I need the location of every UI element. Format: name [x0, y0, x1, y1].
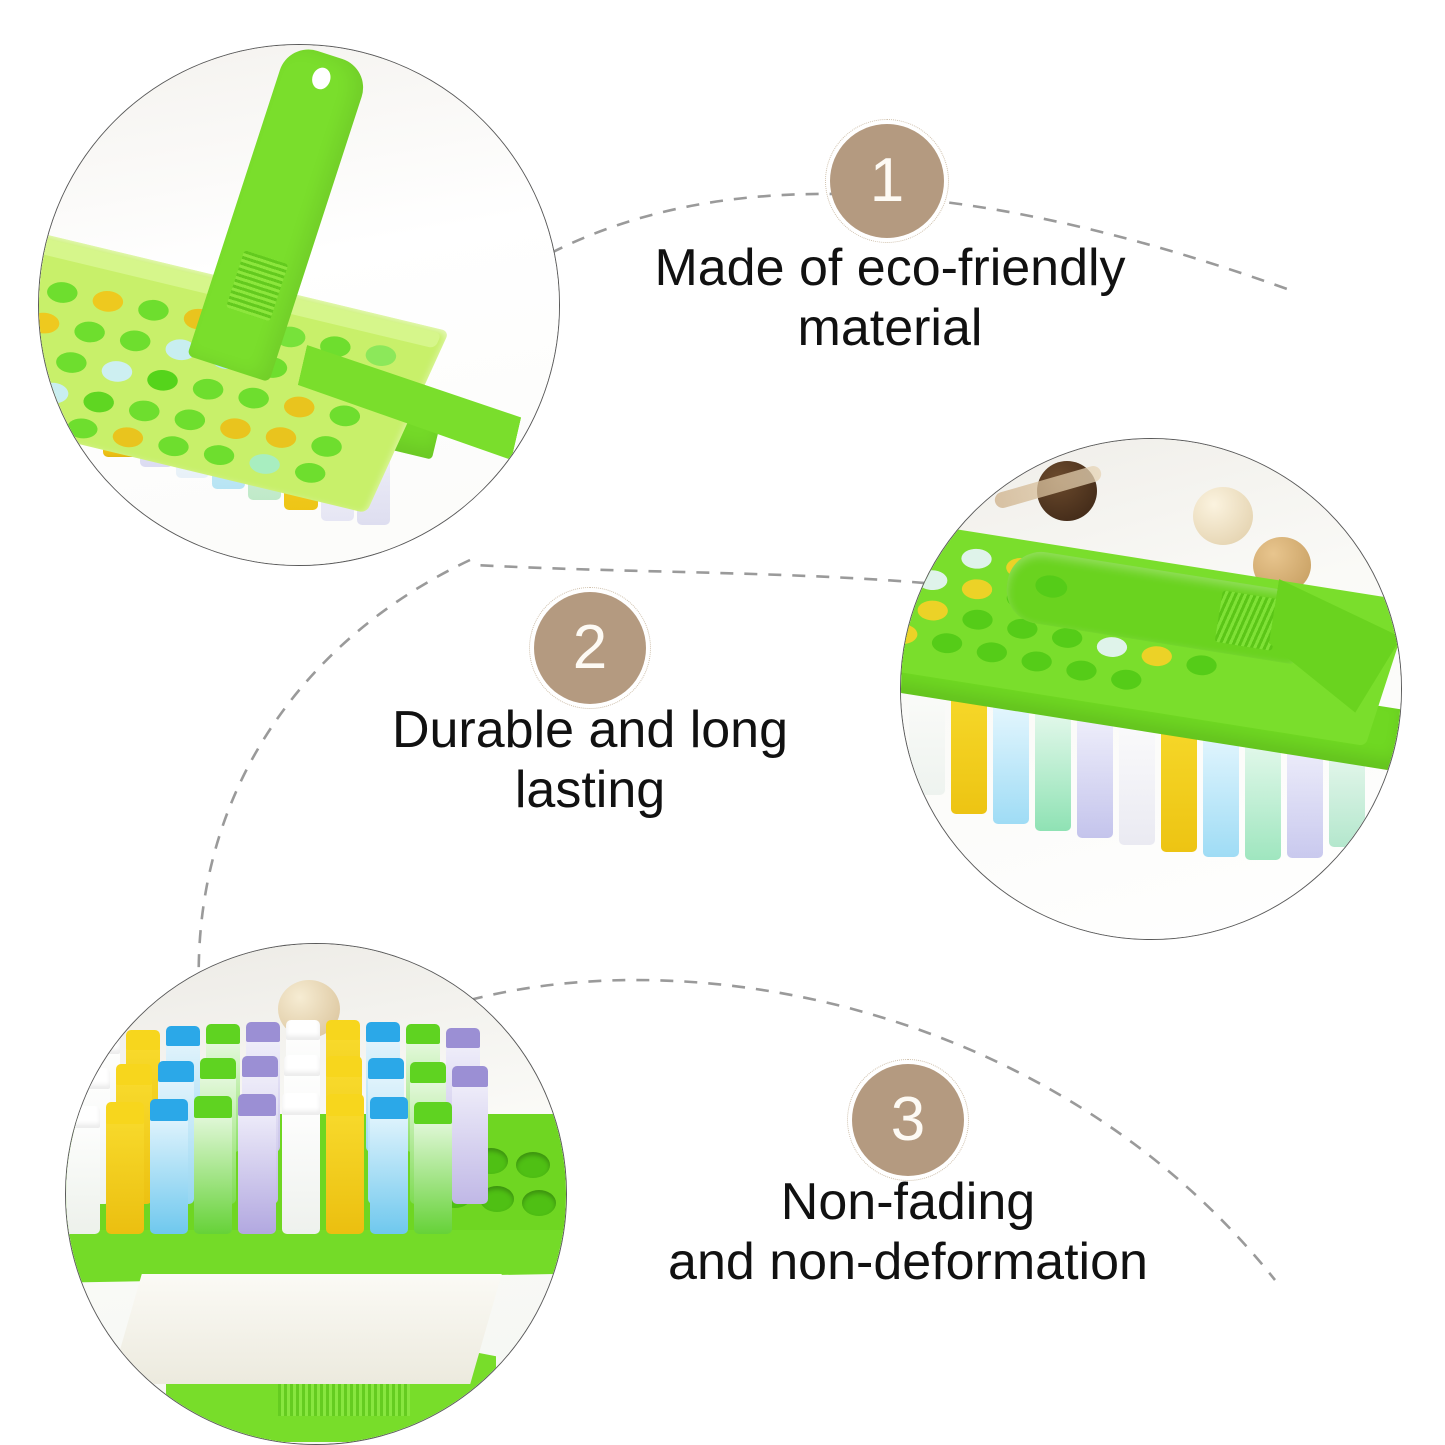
feature-caption-3: Non-fading and non-deformation [588, 1172, 1228, 1293]
hang-hole-icon [309, 65, 333, 91]
rattan-ball-cream [1193, 487, 1253, 545]
feature-photo-3 [65, 943, 567, 1445]
feature-badge-1: 1 [830, 124, 944, 238]
infographic-canvas: 1 Made of eco-friendly material 2 Durabl… [0, 0, 1445, 1445]
rattan-ball-dark [94, 954, 152, 1010]
feature-badge-2: 2 [534, 592, 646, 704]
table-surface [110, 1274, 502, 1384]
badge-number: 3 [891, 1089, 925, 1151]
badge-number: 2 [573, 617, 607, 679]
feature-caption-2: Durable and long lasting [270, 700, 910, 821]
feature-caption-1: Made of eco-friendly material [570, 238, 1210, 359]
feature-photo-2 [900, 438, 1402, 940]
feature-photo-1 [38, 44, 560, 566]
feature-badge-3: 3 [852, 1064, 964, 1176]
badge-number: 1 [870, 150, 904, 212]
grip-ribs [226, 250, 288, 321]
